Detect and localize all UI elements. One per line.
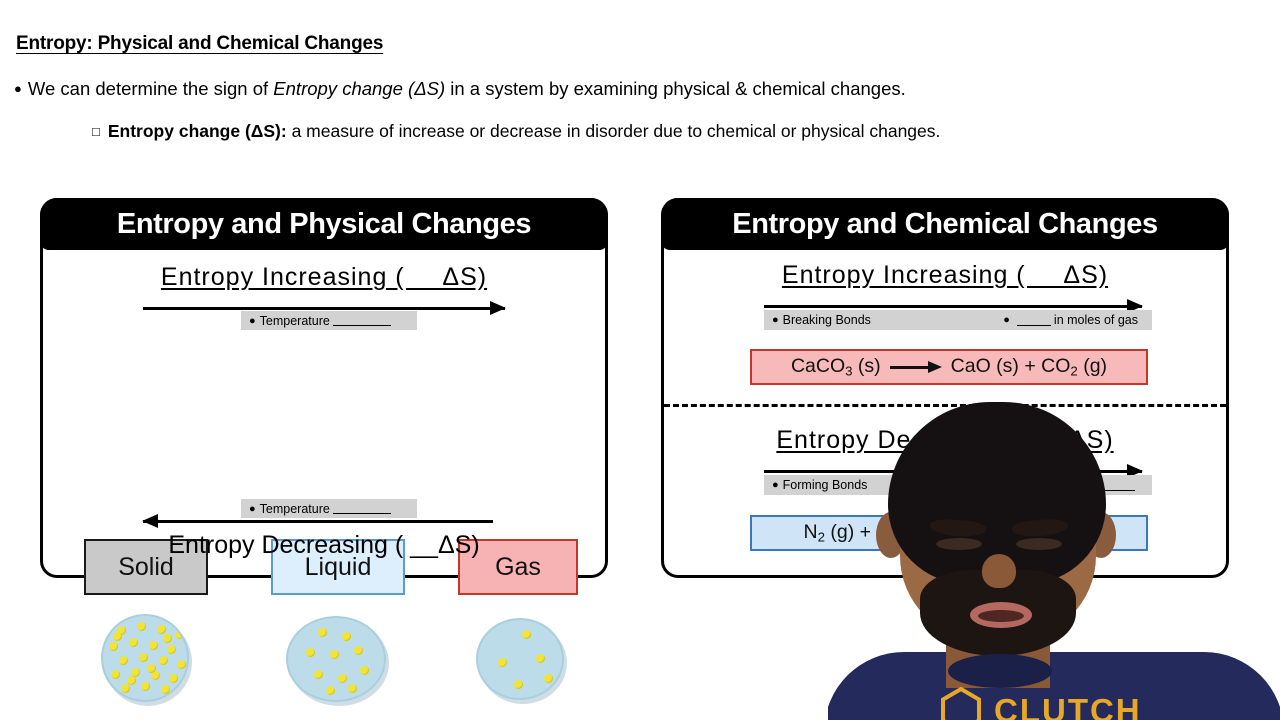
particle-dot bbox=[129, 638, 138, 647]
particle-dot bbox=[147, 664, 156, 673]
particle-dot bbox=[338, 674, 347, 683]
presenter-shirt bbox=[828, 652, 1280, 720]
note-forming-bonds-label: Forming Bonds bbox=[783, 478, 868, 492]
particle-dot bbox=[149, 641, 158, 650]
particle-dot bbox=[163, 634, 172, 643]
bullet-1-text-pre: We can determine the sign of bbox=[28, 78, 273, 99]
arrow-decreasing-left bbox=[143, 514, 493, 528]
particle-dot bbox=[318, 628, 327, 637]
fill-in-blank bbox=[1101, 480, 1135, 491]
equation-products-nh3: 2 NH3 (g) bbox=[1013, 521, 1094, 544]
particle-dot bbox=[157, 625, 166, 634]
particle-diagram-liquid bbox=[286, 616, 386, 702]
reaction-arrow-icon bbox=[952, 527, 1004, 539]
presenter-beard bbox=[920, 570, 1076, 656]
particle-dot bbox=[498, 658, 507, 667]
bullet-dot-icon: ● bbox=[14, 81, 22, 96]
clutch-wordmark: CLUTCH bbox=[994, 692, 1142, 720]
presenter-collar bbox=[948, 654, 1052, 688]
arrow-shaft bbox=[143, 520, 493, 523]
fill-in-blank bbox=[1017, 315, 1051, 326]
arrow-shaft bbox=[764, 470, 1142, 473]
particle-dot bbox=[121, 684, 130, 693]
panel-physical-header-label: Entropy and Physical Changes bbox=[117, 208, 531, 241]
panel-entropy-physical-changes: Entropy and Physical Changes Entropy Inc… bbox=[40, 198, 608, 578]
note-temperature-top-label: Temperature bbox=[260, 314, 330, 328]
particle-dot bbox=[159, 656, 168, 665]
particle-dot bbox=[522, 630, 531, 639]
particle-dot bbox=[109, 642, 118, 651]
square-bullet-icon: □ bbox=[92, 124, 100, 139]
presenter-neck bbox=[946, 630, 1050, 688]
note-moles-gas-label: in moles of gas bbox=[1054, 313, 1138, 327]
clutch-hexagon-logo-icon bbox=[940, 687, 982, 720]
particle-dot bbox=[314, 670, 323, 679]
arrow-head-left-icon bbox=[142, 514, 158, 528]
bullet-2-term: Entropy change (ΔS): bbox=[108, 121, 287, 141]
bullet-item-2: □Entropy change (ΔS): a measure of incre… bbox=[92, 121, 940, 142]
note-dot-icon: ● bbox=[249, 503, 256, 515]
panel-physical-header: Entropy and Physical Changes bbox=[40, 198, 608, 250]
bullet-1-emphasis: Entropy change (ΔS) bbox=[273, 78, 445, 99]
particle-dot bbox=[141, 682, 150, 691]
note-bar-decrease-conditions: ●Forming Bonds ● bbox=[764, 475, 1152, 495]
fill-in-blank bbox=[333, 503, 391, 514]
particle-dot bbox=[342, 632, 351, 641]
particle-dot bbox=[111, 670, 120, 679]
page-title: Entropy: Physical and Chemical Changes bbox=[16, 33, 383, 55]
particle-dot bbox=[161, 685, 170, 694]
panel-divider bbox=[664, 404, 1226, 407]
note-dot-icon: ● bbox=[772, 479, 779, 491]
equation-reactant-n2-h2: N2 (g) + 3 H2 (g) bbox=[804, 521, 944, 544]
panel-entropy-chemical-changes: Entropy and Chemical Changes Entropy Inc… bbox=[661, 198, 1229, 578]
note-dot-icon: ● bbox=[1087, 479, 1094, 491]
fill-in-blank bbox=[333, 315, 391, 326]
note-dot-icon: ● bbox=[1003, 314, 1010, 326]
particle-dot bbox=[113, 632, 122, 641]
panel-chemical-header-label: Entropy and Chemical Changes bbox=[732, 208, 1158, 241]
equation-products-cao-co2: CaO (s) + CO2 (g) bbox=[951, 355, 1107, 378]
presenter-mouth-interior bbox=[978, 610, 1024, 622]
note-dot-icon: ● bbox=[772, 314, 779, 326]
particle-diagram-gas bbox=[476, 618, 564, 700]
note-bar-increase-conditions: ●Breaking Bonds ●in moles of gas bbox=[764, 310, 1152, 330]
particle-dot bbox=[175, 630, 184, 639]
particle-dot bbox=[167, 645, 176, 654]
bullet-1-text-post: in a system by examining physical & chem… bbox=[445, 78, 906, 99]
particle-dot bbox=[177, 660, 186, 669]
panel-chemical-header: Entropy and Chemical Changes bbox=[661, 198, 1229, 250]
arrow-head-right-icon bbox=[490, 301, 506, 315]
chemical-entropy-increasing-label: Entropy Increasing ( __ΔS) bbox=[664, 261, 1226, 290]
particle-dot bbox=[137, 622, 146, 631]
note-breaking-bonds-label: Breaking Bonds bbox=[783, 313, 871, 327]
note-bar-temperature-top: ●Temperature bbox=[241, 311, 417, 330]
particle-dot bbox=[354, 646, 363, 655]
particle-dot bbox=[175, 688, 184, 697]
equation-reactant-caco3: CaCO3 (s) bbox=[791, 355, 881, 378]
particle-dot bbox=[348, 684, 357, 693]
particle-dot bbox=[360, 666, 369, 675]
physical-entropy-increasing-label: Entropy Increasing ( __ΔS) bbox=[43, 263, 605, 292]
physical-entropy-decreasing-label: Entropy Decreasing ( __ΔS) bbox=[43, 531, 605, 560]
particle-dot bbox=[139, 653, 148, 662]
particle-dot bbox=[514, 680, 523, 689]
particle-dot bbox=[306, 648, 315, 657]
particle-dot bbox=[544, 674, 553, 683]
particle-dot bbox=[330, 650, 339, 659]
particle-dot bbox=[119, 656, 128, 665]
particle-diagram-solid bbox=[101, 614, 189, 702]
arrow-shaft bbox=[764, 305, 1142, 308]
arrow-shaft bbox=[143, 307, 505, 310]
particle-dot bbox=[326, 686, 335, 695]
bullet-item-1: ●We can determine the sign of Entropy ch… bbox=[14, 78, 906, 100]
note-dot-icon: ● bbox=[249, 315, 256, 327]
particle-dot bbox=[127, 676, 136, 685]
equation-box-entropy-increase: CaCO3 (s) CaO (s) + CO2 (g) bbox=[750, 349, 1148, 385]
bullet-2-definition: a measure of increase or decrease in dis… bbox=[287, 121, 941, 141]
chemical-entropy-decreasing-label: Entropy Decreasing ( __ΔS) bbox=[664, 426, 1226, 455]
particle-dot bbox=[536, 654, 545, 663]
presenter-mouth bbox=[970, 602, 1032, 628]
particle-dot bbox=[169, 674, 178, 683]
equation-box-entropy-decrease: N2 (g) + 3 H2 (g) 2 NH3 (g) bbox=[750, 515, 1148, 551]
reaction-arrow-icon bbox=[890, 361, 942, 373]
